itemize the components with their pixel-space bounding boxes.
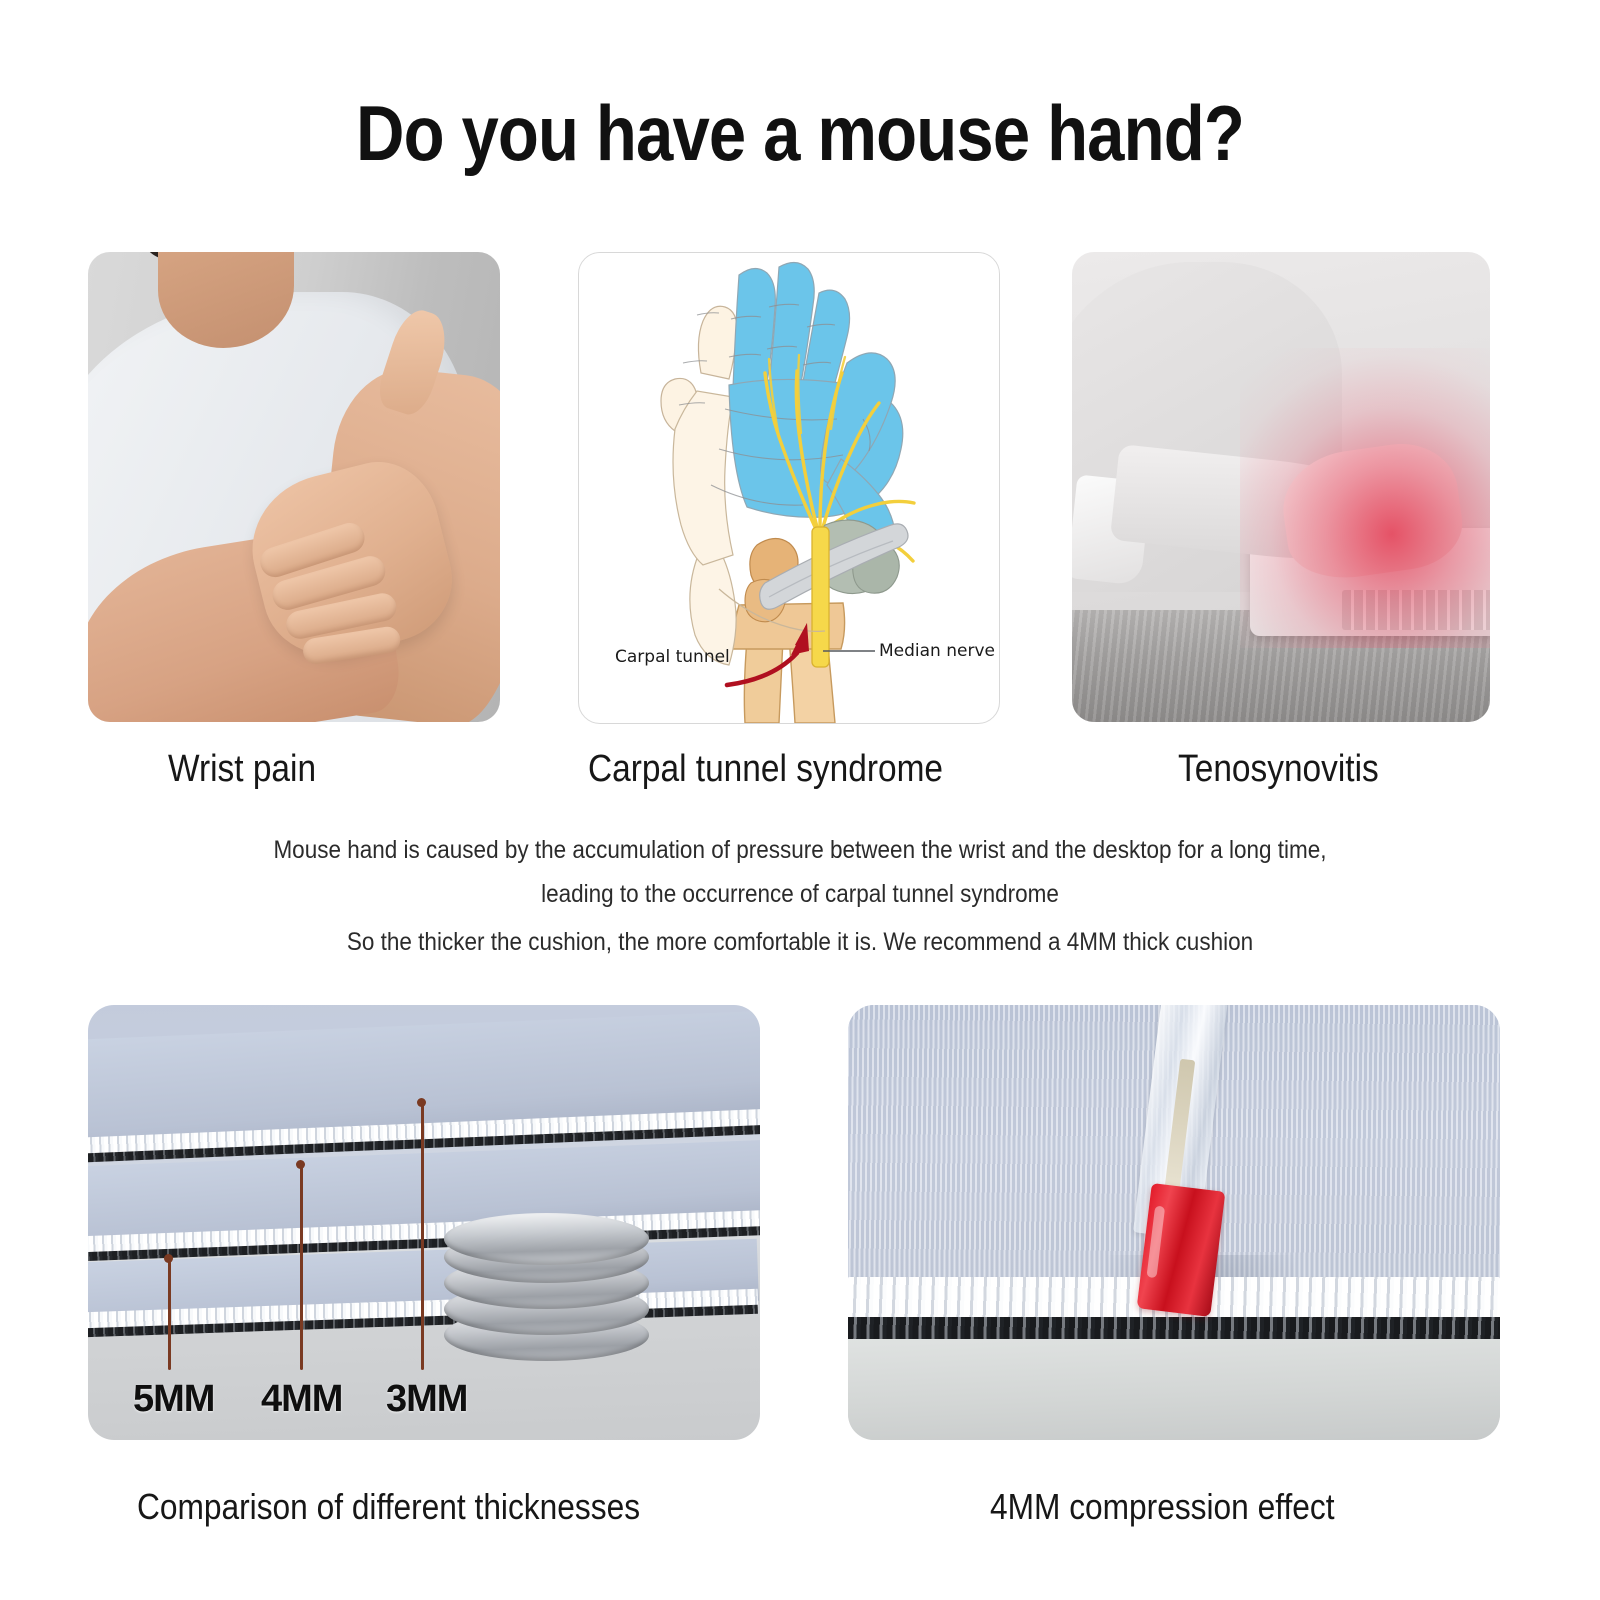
carpal-tunnel-label: Carpal tunnel (615, 647, 730, 667)
tick-line-3mm (421, 1102, 424, 1370)
thickness-label-3mm: 3MM (386, 1378, 467, 1421)
median-nerve-label: Median nerve (879, 641, 995, 661)
caption-wrist-pain: Wrist pain (168, 748, 316, 791)
tick-line-4mm (300, 1164, 303, 1370)
caption-thickness-comparison: Comparison of different thicknesses (137, 1486, 640, 1528)
table-surface (848, 1339, 1500, 1440)
photo-compression-effect (848, 1005, 1500, 1440)
diagram-carpal-tunnel: Carpal tunnel Median nerve (578, 252, 1000, 724)
body-text-line-1: Mouse hand is caused by the accumulation… (80, 836, 1520, 865)
page-title: Do you have a mouse hand? (112, 88, 1488, 179)
body-text-line-3: So the thicker the cushion, the more com… (80, 928, 1520, 957)
caption-tenosynovitis: Tenosynovitis (1178, 748, 1379, 791)
tick-line-5mm (168, 1258, 171, 1370)
caption-compression-effect: 4MM compression effect (990, 1486, 1335, 1528)
photo-thickness-comparison (88, 1005, 760, 1440)
pad-base-layer (848, 1317, 1500, 1341)
coin-top (444, 1213, 649, 1265)
photo-wrist-pain (88, 252, 500, 722)
thickness-label-4mm: 4MM (261, 1378, 342, 1421)
laptop-keyboard (1342, 590, 1490, 630)
thickness-label-5mm: 5MM (133, 1378, 214, 1421)
caption-carpal-tunnel: Carpal tunnel syndrome (588, 748, 943, 791)
body-text-line-2: leading to the occurrence of carpal tunn… (80, 880, 1520, 909)
red-pen-cap (1137, 1183, 1226, 1317)
photo-tenosynovitis (1072, 252, 1490, 722)
